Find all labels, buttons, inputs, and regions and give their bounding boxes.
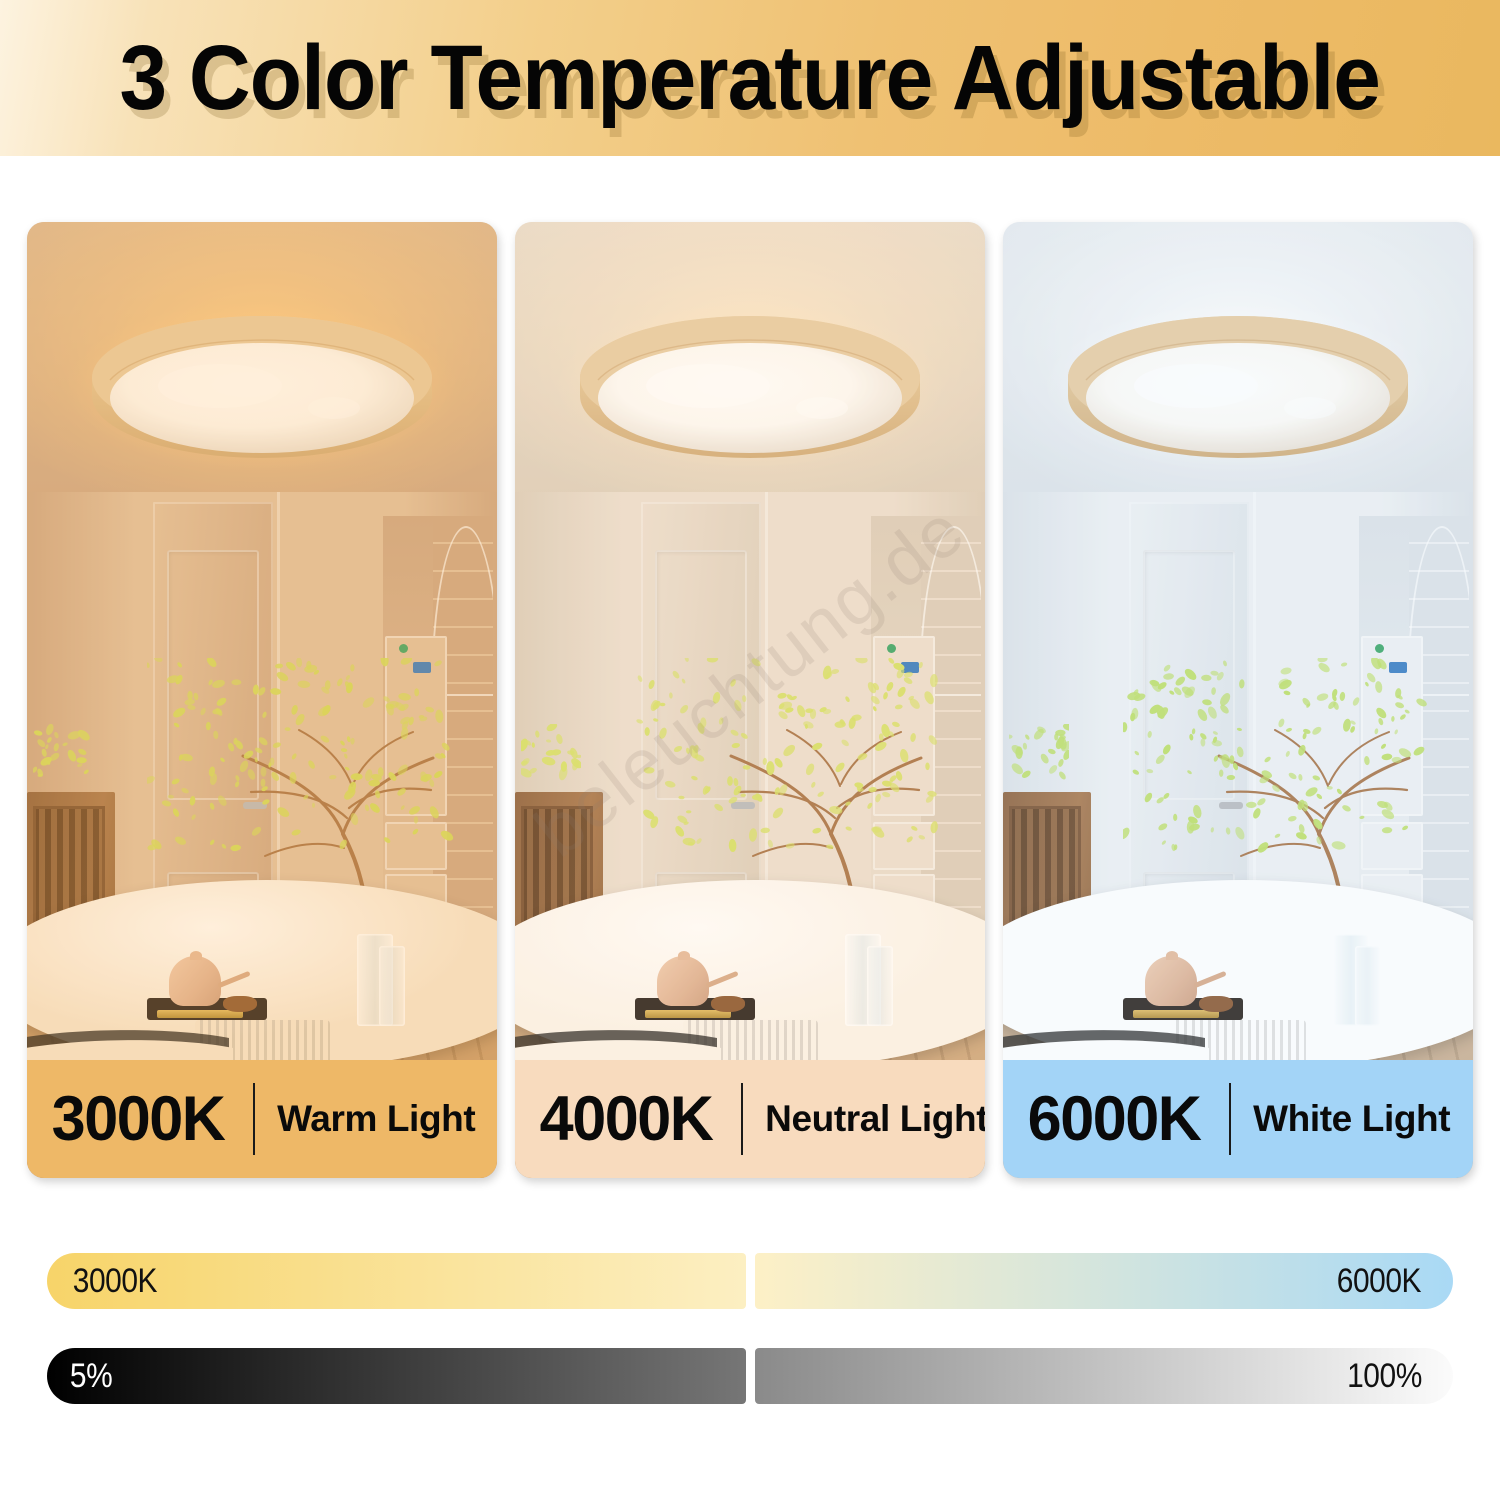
teapot — [657, 956, 709, 1006]
teapot — [169, 956, 221, 1006]
temperature-panel-white[interactable]: 6000K White Light — [1003, 222, 1473, 1178]
kelvin-value-neutral: 4000K — [540, 1088, 713, 1151]
slider-color-temperature-right-segment[interactable]: 6000K — [755, 1253, 1454, 1309]
caption-divider — [741, 1083, 743, 1155]
glass-vase-secondary — [379, 946, 405, 1026]
slider-brightness-right-segment[interactable]: 100% — [755, 1348, 1454, 1404]
ceiling-lamp-warm — [62, 300, 462, 490]
teapot-knob — [678, 951, 690, 960]
corner-plant — [33, 724, 93, 794]
caption-bar-neutral: 4000K Neutral Light — [515, 1060, 985, 1178]
caption-bar-warm: 3000K Warm Light — [27, 1060, 497, 1178]
ceiling-lamp-neutral — [550, 300, 950, 490]
light-name-white: White Light — [1253, 1098, 1450, 1140]
slider-color-temperature-min-label: 3000K — [73, 1264, 157, 1298]
kelvin-value-warm: 3000K — [52, 1088, 225, 1151]
slider-brightness[interactable]: 5% 100% — [47, 1348, 1453, 1404]
slider-color-temperature-max-label: 6000K — [1337, 1264, 1421, 1298]
room-scene-neutral: beleuchtung.de — [515, 222, 985, 1178]
slider-color-temperature-left-segment[interactable]: 3000K — [47, 1253, 746, 1309]
room-scene-white — [1003, 222, 1473, 1178]
slider-brightness-left-segment[interactable]: 5% — [47, 1348, 746, 1404]
green-sticker — [1375, 644, 1384, 653]
teapot-knob — [190, 951, 202, 960]
corner-plant — [521, 724, 581, 794]
temperature-panel-row: 3000K Warm Light — [27, 222, 1473, 1178]
slider-bars: 3000K 6000K 5% 100% — [47, 1253, 1453, 1443]
glass-vase-secondary — [1355, 946, 1381, 1026]
caption-bar-white: 6000K White Light — [1003, 1060, 1473, 1178]
temperature-panel-warm[interactable]: 3000K Warm Light — [27, 222, 497, 1178]
teapot — [1145, 956, 1197, 1006]
caption-divider — [1229, 1083, 1231, 1155]
slider-brightness-max-label: 100% — [1347, 1359, 1422, 1393]
light-name-warm: Warm Light — [277, 1098, 475, 1140]
slider-brightness-min-label: 5% — [70, 1359, 112, 1393]
kelvin-value-white: 6000K — [1028, 1088, 1201, 1151]
light-name-neutral: Neutral Light — [765, 1098, 985, 1140]
ceiling-lamp-white — [1038, 300, 1438, 490]
header-banner: 3 Color Temperature Adjustable — [0, 0, 1500, 156]
teapot-knob — [1166, 951, 1178, 960]
temperature-panel-neutral[interactable]: beleuchtung.de 4000K Neutral Light — [515, 222, 985, 1178]
room-scene-warm — [27, 222, 497, 1178]
green-sticker — [887, 644, 896, 653]
page-title: 3 Color Temperature Adjustable — [120, 32, 1381, 124]
green-sticker — [399, 644, 408, 653]
corner-plant — [1009, 724, 1069, 794]
slider-color-temperature[interactable]: 3000K 6000K — [47, 1253, 1453, 1309]
glass-vase-secondary — [867, 946, 893, 1026]
caption-divider — [253, 1083, 255, 1155]
